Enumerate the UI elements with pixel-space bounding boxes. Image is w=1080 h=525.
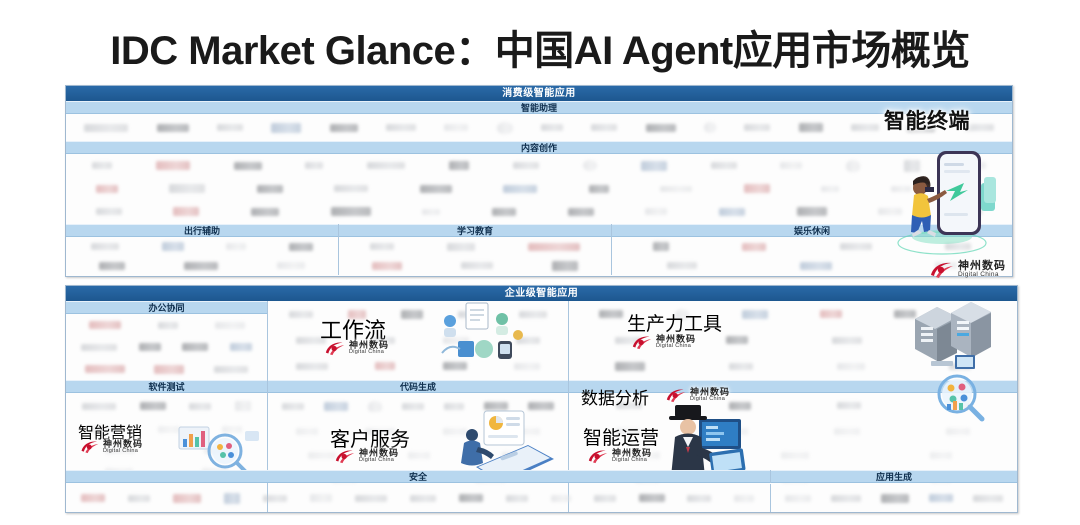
logo-row-content-2 bbox=[66, 177, 1012, 200]
band-app-generation: 应用生成 bbox=[771, 470, 1017, 483]
band-software-testing: 软件测试 bbox=[66, 380, 267, 393]
column-education: 学习教育 bbox=[339, 224, 611, 275]
callout-title-data-analysis: 数据分析 bbox=[581, 384, 649, 409]
logo-row-edu-2 bbox=[339, 256, 611, 275]
band-security-wrap: 安全 bbox=[66, 470, 770, 483]
brand-en: Digital China bbox=[103, 449, 143, 455]
brand-en: Digital China bbox=[349, 350, 389, 356]
data-analysis-illustration bbox=[923, 368, 999, 424]
logo-row-testing bbox=[66, 393, 267, 419]
digital-china-mark bbox=[334, 449, 356, 464]
band-office-collaboration: 办公协同 bbox=[66, 301, 267, 314]
logo-row-travel-2 bbox=[66, 256, 338, 275]
consumer-header-band: 消费级智能应用 bbox=[66, 86, 1012, 101]
productivity-illustration bbox=[893, 299, 1003, 379]
smart-terminal-illustration bbox=[880, 131, 1008, 261]
brand-en: Digital China bbox=[656, 344, 696, 350]
logo-row-office-3 bbox=[66, 358, 267, 380]
digital-china-mark bbox=[631, 335, 653, 350]
callout-smart-terminal: 智能终端 神州数码 Di bbox=[880, 105, 1008, 275]
band-security: 安全 bbox=[66, 470, 770, 483]
band-travel-assist: 出行辅助 bbox=[66, 224, 338, 237]
brand-en: Digital China bbox=[359, 458, 399, 464]
digital-china-mark bbox=[324, 341, 346, 356]
digital-china-mark bbox=[587, 449, 609, 464]
logo-row-content-3 bbox=[66, 200, 1012, 223]
brand-en: Digital China bbox=[690, 397, 730, 403]
digital-china-logo-ops: 神州数码 Digital China bbox=[587, 449, 652, 464]
digital-china-logo-productivity: 神州数码 Digital China bbox=[631, 335, 696, 350]
logo-row-content-1 bbox=[66, 154, 1012, 177]
consumer-section-panel: 消费级智能应用 智能助理 内容创作 bbox=[65, 85, 1013, 277]
page-title: IDC Market Glance：中国AI Agent应用市场概览 bbox=[0, 18, 1080, 76]
callout-data-analysis: 数据分析 神州数码 Digital China bbox=[569, 380, 1017, 419]
brand-en: Digital China bbox=[958, 272, 1006, 279]
brand-en: Digital China bbox=[612, 458, 652, 464]
enterprise-bottom-bands: 安全 应用生成 bbox=[66, 470, 1017, 483]
digital-china-mark bbox=[80, 440, 100, 454]
digital-china-logo-cs: 神州数码 Digital China bbox=[334, 449, 399, 464]
band-app-generation-wrap: 应用生成 bbox=[771, 470, 1017, 483]
logo-row-security bbox=[66, 484, 770, 512]
digital-china-logo-data: 神州数码 Digital China bbox=[665, 388, 730, 403]
callout-title-smart-operations: 智能运营 bbox=[583, 423, 659, 450]
workflow-illustration bbox=[428, 301, 538, 377]
logo-row-office-2 bbox=[66, 336, 267, 358]
digital-china-logo-workflow: 神州数码 Digital China bbox=[324, 341, 389, 356]
consumer-bottom-columns: 出行辅助 学习教育 bbox=[66, 224, 1012, 275]
band-content-creation: 内容创作 bbox=[66, 141, 1012, 154]
digital-china-mark bbox=[665, 388, 687, 403]
logo-row-office-1 bbox=[66, 314, 267, 336]
logo-row-assistant bbox=[66, 114, 1012, 141]
logo-row-app-generation bbox=[771, 484, 1017, 512]
digital-china-logo-terminal: 神州数码 Digital China bbox=[929, 261, 1006, 279]
enterprise-section-panel: 企业级智能应用 办公协同 软件测试 bbox=[65, 285, 1018, 513]
logo-row-edu-1 bbox=[339, 237, 611, 256]
logo-row-travel-1 bbox=[66, 237, 338, 256]
enterprise-header-band: 企业级智能应用 bbox=[66, 286, 1017, 301]
band-code-generation: 代码生成 bbox=[268, 380, 568, 393]
column-travel: 出行辅助 bbox=[66, 224, 338, 275]
callout-workflow: 工作流 神州数码 Digital China bbox=[268, 301, 568, 380]
enterprise-bottom-logo-strip bbox=[66, 484, 1017, 512]
digital-china-mark bbox=[929, 261, 955, 279]
band-learning-education: 学习教育 bbox=[339, 224, 611, 237]
band-intelligent-assistant: 智能助理 bbox=[66, 101, 1012, 114]
callout-title-productivity: 生产力工具 bbox=[627, 309, 722, 336]
digital-china-logo-marketing: 神州数码 Digital China bbox=[80, 440, 143, 455]
